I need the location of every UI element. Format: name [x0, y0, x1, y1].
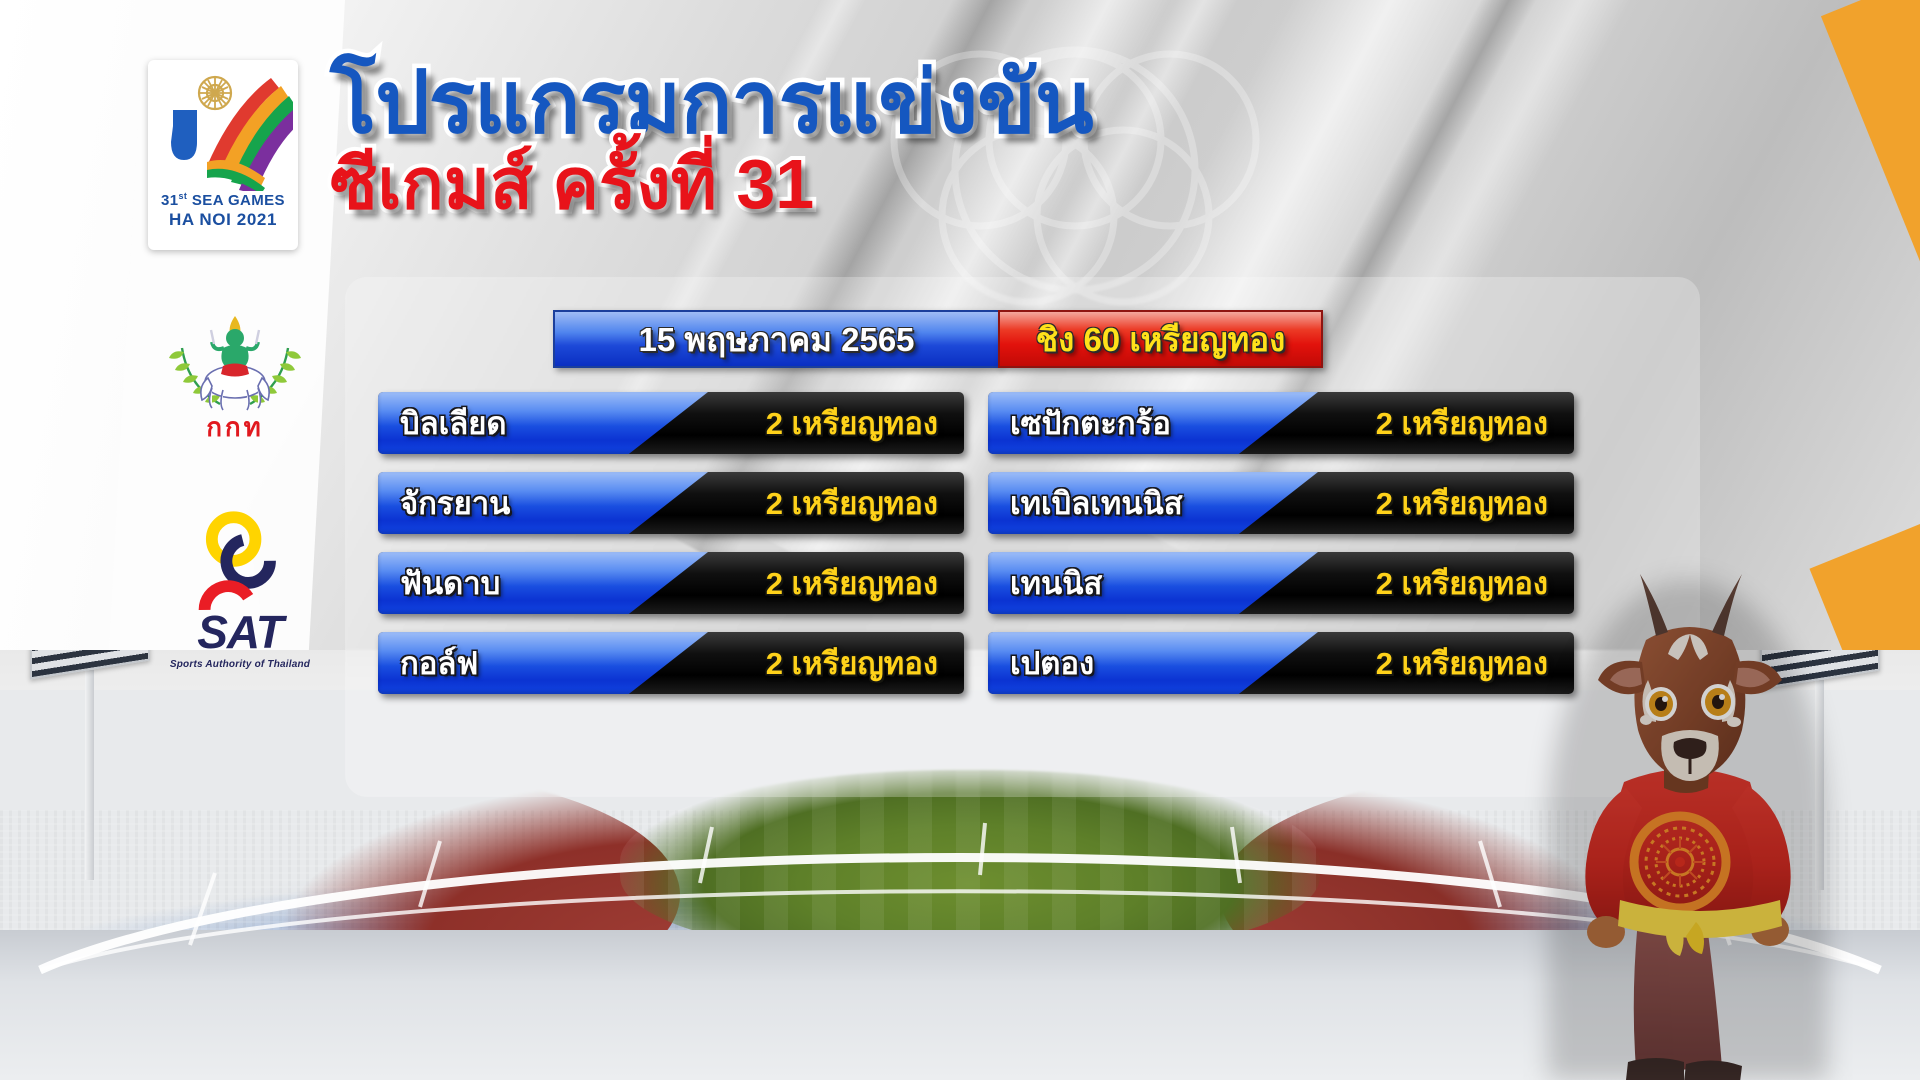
schedule-row[interactable]: จักรยาน 2 เหรียญทอง	[378, 472, 964, 534]
indra-erawan-emblem-icon	[160, 290, 310, 415]
sport-medals: 2 เหรียญทอง	[766, 558, 938, 608]
page-subtitle: ซีเกมส์ ครั้งที่ 31	[330, 149, 1093, 219]
sport-name: เปตอง	[1010, 638, 1094, 688]
sport-name: เทเบิลเทนนิส	[1010, 478, 1183, 528]
sport-name: บิลเลียด	[400, 398, 507, 448]
page-title-block: โปรแกรมการแข่งขัน ซีเกมส์ ครั้งที่ 31	[330, 62, 1093, 219]
floodlight-tower-left	[30, 650, 150, 880]
sea-games-emblem-icon	[153, 66, 293, 191]
logo-sea-games-31: 31st SEA GAMES HA NOI 2021	[148, 60, 298, 250]
poster-stage: 31st SEA GAMES HA NOI 2021	[0, 0, 1920, 1080]
sport-name: กอล์ฟ	[400, 638, 478, 688]
sport-medals: 2 เหรียญทอง	[766, 478, 938, 528]
sport-medals: 2 เหรียญทอง	[1376, 558, 1548, 608]
sea-games-logo-line1: 31st SEA GAMES	[161, 191, 285, 209]
mascot-sao-la	[1528, 570, 1848, 1080]
schedule-row[interactable]: บิลเลียด 2 เหรียญทอง	[378, 392, 964, 454]
sport-name: ฟันดาบ	[400, 558, 500, 608]
sport-medals: 2 เหรียญทอง	[766, 638, 938, 688]
schedule-row[interactable]: เทนนิส 2 เหรียญทอง	[988, 552, 1574, 614]
date-label: 15 พฤษภาคม 2565	[638, 313, 914, 366]
sport-medals: 2 เหรียญทอง	[766, 398, 938, 448]
schedule-column-right: เซปักตะกร้อ 2 เหรียญทอง เทเบิลเทนนิส 2 เ…	[988, 392, 1574, 694]
sport-medals: 2 เหรียญทอง	[1376, 638, 1548, 688]
sat-tagline: Sports Authority of Thailand	[170, 659, 310, 670]
schedule-row[interactable]: กอล์ฟ 2 เหรียญทอง	[378, 632, 964, 694]
total-medals-label: ชิง 60 เหรียญทอง	[1036, 313, 1285, 366]
schedule-row[interactable]: เซปักตะกร้อ 2 เหรียญทอง	[988, 392, 1574, 454]
logo-noc-thailand: กกท	[160, 290, 310, 450]
sat-rings-icon	[165, 510, 315, 619]
sport-name: เทนนิส	[1010, 558, 1102, 608]
schedule-column-left: บิลเลียด 2 เหรียญทอง จักรยาน 2 เหรียญทอง…	[378, 392, 964, 694]
schedule-columns: บิลเลียด 2 เหรียญทอง จักรยาน 2 เหรียญทอง…	[378, 392, 1668, 694]
noc-abbreviation-label: กกท	[206, 407, 264, 448]
page-title: โปรแกรมการแข่งขัน	[330, 62, 1093, 145]
schedule-row[interactable]: เทเบิลเทนนิส 2 เหรียญทอง	[988, 472, 1574, 534]
sport-medals: 2 เหรียญทอง	[1376, 398, 1548, 448]
sat-wordmark: SAT	[197, 605, 283, 659]
sport-name: เซปักตะกร้อ	[1010, 398, 1171, 448]
banner-row: 15 พฤษภาคม 2565 ชิง 60 เหรียญทอง	[553, 310, 1323, 368]
logo-sports-authority-thailand: SAT Sports Authority of Thailand	[160, 510, 320, 670]
total-medals-banner: ชิง 60 เหรียญทอง	[998, 310, 1323, 368]
sea-games-logo-line2: HA NOI 2021	[169, 210, 277, 230]
schedule-row[interactable]: ฟันดาบ 2 เหรียญทอง	[378, 552, 964, 614]
date-banner: 15 พฤษภาคม 2565	[553, 310, 1000, 368]
schedule-row[interactable]: เปตอง 2 เหรียญทอง	[988, 632, 1574, 694]
sport-medals: 2 เหรียญทอง	[1376, 478, 1548, 528]
sport-name: จักรยาน	[400, 478, 510, 528]
